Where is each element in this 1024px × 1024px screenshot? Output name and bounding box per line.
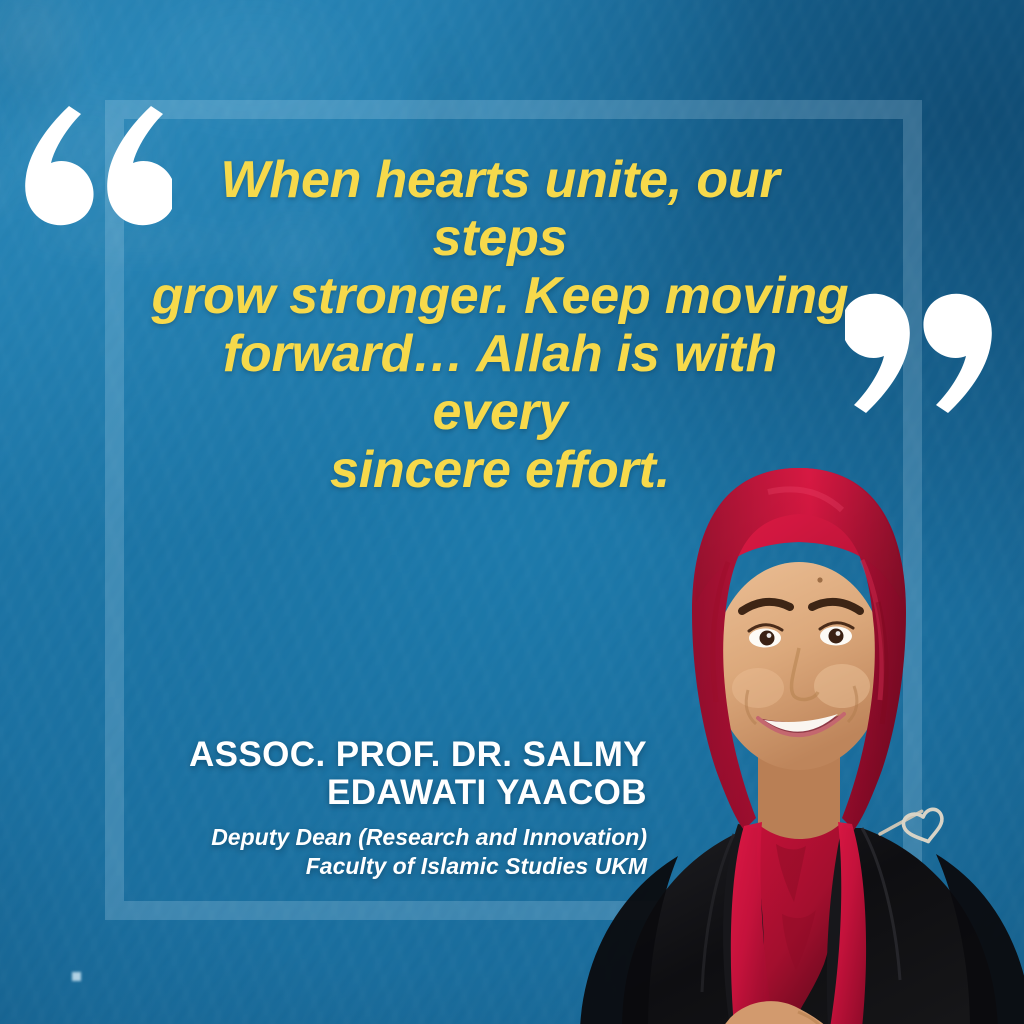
close-quote-icon (845, 290, 995, 415)
quote-line: When hearts unite, our steps (150, 152, 850, 268)
quote-poster: When hearts unite, our steps grow strong… (0, 0, 1024, 1024)
speaker-portrait (562, 452, 1024, 1024)
quote-text: When hearts unite, our steps grow strong… (150, 152, 850, 500)
background-speck (72, 972, 81, 981)
quote-line: forward… Allah is with every (150, 326, 850, 442)
face-shape (713, 562, 885, 770)
quote-line: grow stronger. Keep moving (150, 268, 850, 326)
